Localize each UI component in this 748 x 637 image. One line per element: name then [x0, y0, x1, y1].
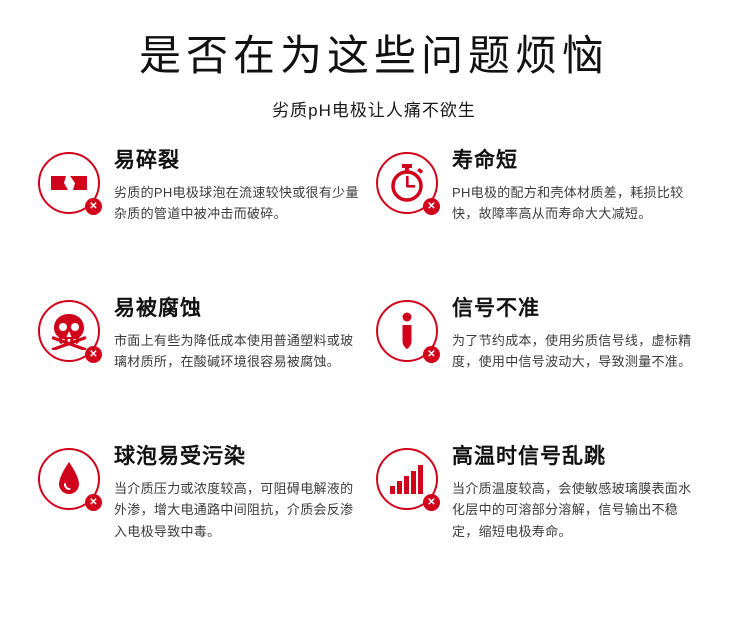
- problem-desc: PH电极的配方和壳体材质差，耗损比较快，故障率高从而寿命大大减短。: [452, 182, 700, 225]
- problem-desc: 劣质的PH电极球泡在流速较快或很有少量杂质的管道中被冲击而破碎。: [114, 182, 362, 225]
- cross-badge: ✕: [423, 494, 440, 511]
- icon-badge: ✕: [376, 152, 438, 214]
- problem-item-signal-inaccurate: ✕ 信号不准 为了节约成本，使用劣质信号线，虚标精度，使用中信号波动大，导致测量…: [376, 288, 714, 436]
- page-header: 是否在为这些问题烦恼 劣质pH电极让人痛不欲生: [0, 0, 748, 121]
- problem-text: 易碎裂 劣质的PH电极球泡在流速较快或很有少量杂质的管道中被冲击而破碎。: [114, 140, 366, 225]
- problem-text: 高温时信号乱跳 当介质温度较高，会使敏感玻璃膜表面水化层中的可溶部分溶解，信号输…: [452, 436, 704, 542]
- cross-badge: ✕: [85, 346, 102, 363]
- problem-title: 易被腐蚀: [114, 292, 366, 322]
- skull-icon: [50, 312, 88, 350]
- stopwatch-icon: [388, 163, 426, 203]
- icon-badge: ✕: [38, 300, 100, 362]
- page-title: 是否在为这些问题烦恼: [0, 34, 748, 80]
- page-subtitle: 劣质pH电极让人痛不欲生: [0, 96, 748, 121]
- cross-badge: ✕: [85, 494, 102, 511]
- cross-badge: ✕: [423, 346, 440, 363]
- page-root: 是否在为这些问题烦恼 劣质pH电极让人痛不欲生 ✕ 易碎裂 劣质的PH电极: [0, 0, 748, 637]
- problem-title: 高温时信号乱跳: [452, 440, 704, 470]
- problem-text: 球泡易受污染 当介质压力或浓度较高，可阻碍电解液的外渗，增大电通路中间阻抗，介质…: [114, 436, 366, 542]
- signal-bars-icon: [389, 464, 425, 494]
- problem-grid: ✕ 易碎裂 劣质的PH电极球泡在流速较快或很有少量杂质的管道中被冲击而破碎。: [38, 140, 714, 584]
- cross-badge: ✕: [423, 198, 440, 215]
- cross-badge: ✕: [85, 198, 102, 215]
- problem-desc: 为了节约成本，使用劣质信号线，虚标精度，使用中信号波动大，导致测量不准。: [452, 330, 700, 373]
- problem-item-broken: ✕ 易碎裂 劣质的PH电极球泡在流速较快或很有少量杂质的管道中被冲击而破碎。: [38, 140, 376, 288]
- problem-item-lifespan: ✕ 寿命短 PH电极的配方和壳体材质差，耗损比较快，故障率高从而寿命大大减短。: [376, 140, 714, 288]
- icon-badge: ✕: [38, 152, 100, 214]
- problem-title: 寿命短: [452, 144, 704, 174]
- icon-badge: ✕: [38, 448, 100, 510]
- broken-bar-icon: [49, 172, 89, 194]
- problem-text: 信号不准 为了节约成本，使用劣质信号线，虚标精度，使用中信号波动大，导致测量不准…: [452, 288, 704, 373]
- problem-title: 易碎裂: [114, 144, 366, 174]
- problem-desc: 当介质压力或浓度较高，可阻碍电解液的外渗，增大电通路中间阻抗，介质会反渗入电极导…: [114, 478, 362, 542]
- icon-badge: ✕: [376, 300, 438, 362]
- problem-item-contamination: ✕ 球泡易受污染 当介质压力或浓度较高，可阻碍电解液的外渗，增大电通路中间阻抗，…: [38, 436, 376, 584]
- problem-title: 球泡易受污染: [114, 440, 366, 470]
- problem-desc: 市面上有些为降低成本使用普通塑料或玻璃材质所，在酸碱环境很容易被腐蚀。: [114, 330, 362, 373]
- problem-text: 易被腐蚀 市面上有些为降低成本使用普通塑料或玻璃材质所，在酸碱环境很容易被腐蚀。: [114, 288, 366, 373]
- info-exclamation-icon: [398, 312, 416, 350]
- problem-item-corrosion: ✕ 易被腐蚀 市面上有些为降低成本使用普通塑料或玻璃材质所，在酸碱环境很容易被腐…: [38, 288, 376, 436]
- water-drop-icon: [56, 460, 82, 498]
- problem-title: 信号不准: [452, 292, 704, 322]
- problem-text: 寿命短 PH电极的配方和壳体材质差，耗损比较快，故障率高从而寿命大大减短。: [452, 140, 704, 225]
- problem-item-high-temp: ✕ 高温时信号乱跳 当介质温度较高，会使敏感玻璃膜表面水化层中的可溶部分溶解，信…: [376, 436, 714, 584]
- problem-desc: 当介质温度较高，会使敏感玻璃膜表面水化层中的可溶部分溶解，信号输出不稳定，缩短电…: [452, 478, 700, 542]
- icon-badge: ✕: [376, 448, 438, 510]
